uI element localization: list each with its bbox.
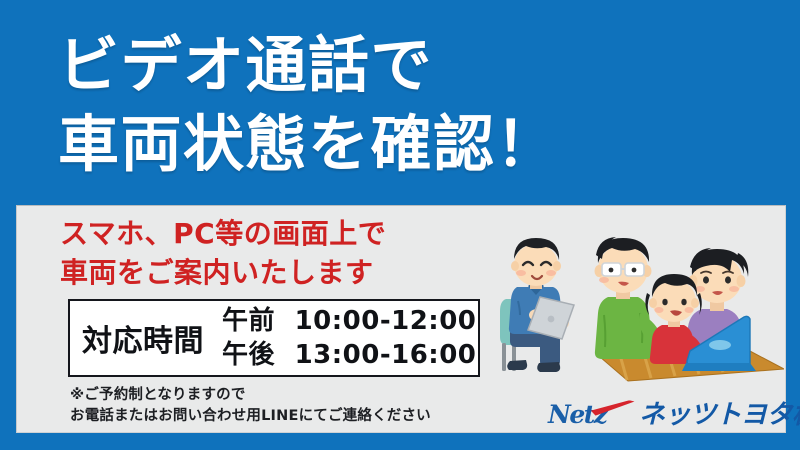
service-hours-box: 対応時間 午前 10:00-12:00 午後 13:00-16:00 [68,299,480,377]
service-hours-values: 午前 10:00-12:00 午後 13:00-16:00 [204,304,476,372]
service-hours-label: 対応時間 [70,316,204,360]
subheadline-line-2: 車両をご案内いたします [60,253,500,292]
netz-wordmark: Netz [548,400,632,430]
illustration-people-video-call [492,235,784,390]
footnote-line-2: お電話またはお問い合わせ用LINEにてご連絡ください [70,406,500,427]
service-hours-period-afternoon: 午後 [222,340,275,370]
service-hours-time-morning: 10:00-12:00 [295,306,477,336]
dealer-name-japanese: ネッツトヨタ栃木 [639,400,800,430]
reservation-footnote: ※ご予約制となりますので お電話またはお問い合わせ用LINEにてご連絡ください [70,385,500,427]
dealer-name-netz-toyota: ネッツトヨタ [639,400,792,430]
staff-on-chair-holding-tablet [500,238,574,372]
service-hours-row: 午後 13:00-16:00 [222,338,476,372]
headline-line-1: ビデオ通話で [58,26,758,105]
service-hours-period-morning: 午前 [222,306,275,336]
footnote-line-1: ※ご予約制となりますので [70,385,500,406]
subheadline: スマホ、PC等の画面上で 車両をご案内いたします [60,214,500,292]
headline: ビデオ通話で 車両状態を確認！ [58,26,758,184]
promotional-banner: ビデオ通話で 車両状態を確認！ スマホ、PC等の画面上で 車両をご案内いたします… [0,0,800,450]
service-hours-time-afternoon: 13:00-16:00 [295,340,477,370]
subheadline-line-1: スマホ、PC等の画面上で [60,214,500,253]
service-hours-row: 午前 10:00-12:00 [222,304,476,338]
netz-toyota-tochigi-logo: Netz ネッツトヨタ栃木 [548,398,786,432]
dealer-name-region: 栃木 [792,400,800,430]
headline-line-2: 車両状態を確認！ [58,105,758,184]
netz-wordmark-text: Netz [548,401,607,429]
